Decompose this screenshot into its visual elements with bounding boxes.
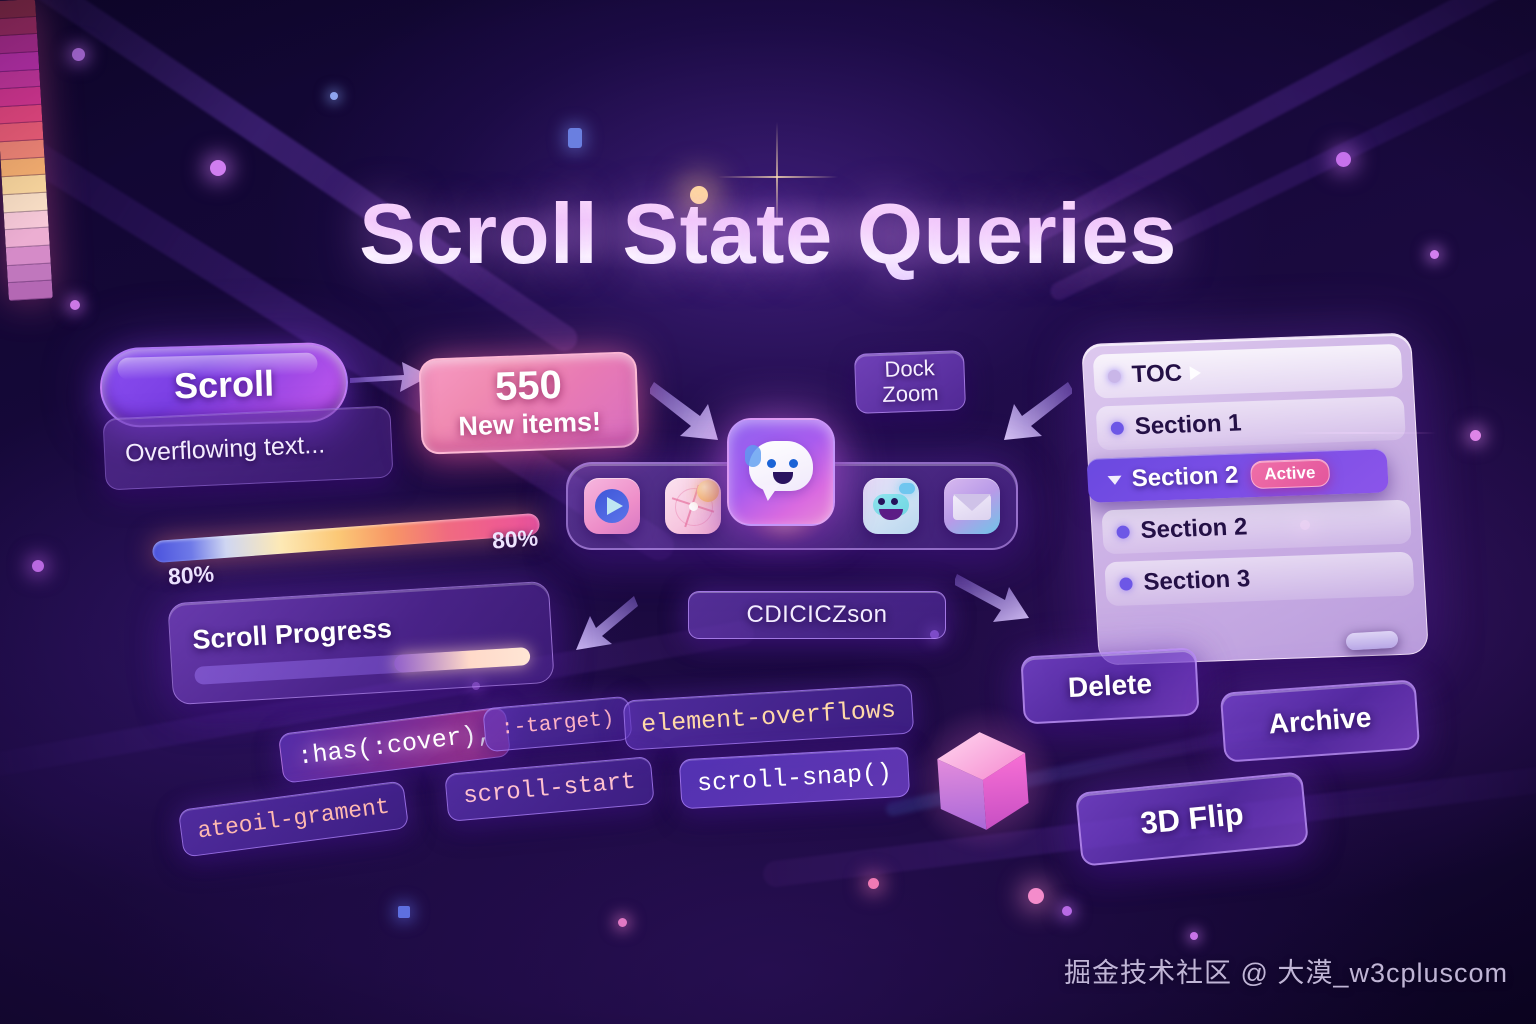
3d-flip-button-label: 3D Flip — [1139, 796, 1245, 842]
code-pill-label: CDICICZson — [746, 601, 887, 629]
mail-icon[interactable] — [944, 478, 1000, 534]
3d-flip-button[interactable]: 3D Flip — [1075, 771, 1309, 867]
toc-item-label: Section 1 — [1134, 409, 1242, 441]
code-tag-label: ateoil-grament — [196, 794, 391, 845]
scroll-progress-gradient-bar[interactable] — [152, 513, 541, 563]
page-title: Scroll State Queries — [0, 186, 1536, 284]
play-icon[interactable] — [584, 478, 640, 534]
scrollbar-segment — [8, 281, 53, 301]
code-tag-scroll-snap[interactable]: scroll-snap() — [679, 747, 910, 810]
3d-cube-icon — [931, 727, 1034, 837]
code-tag-scroll-start[interactable]: scroll-start — [444, 756, 654, 822]
scroll-progress-inner-fill — [394, 647, 531, 673]
scroll-progress-title: Scroll Progress — [192, 613, 393, 656]
archive-button-label: Archive — [1268, 701, 1373, 740]
chat-face-icon[interactable] — [727, 418, 835, 526]
toc-item-section-1[interactable]: Section 1 — [1096, 396, 1406, 451]
progress-percent-right: 80% — [491, 524, 539, 554]
code-tag-label: :-target) — [500, 708, 615, 741]
arrow-dockzoom-to-toc — [980, 378, 1072, 450]
toc-item-section-2-active[interactable]: Section 2 Active — [1086, 448, 1388, 502]
toc-header-label: TOC — [1131, 360, 1183, 390]
toc-item-label: Section 2 — [1131, 462, 1239, 494]
scrollbar-thumb[interactable] — [1346, 630, 1399, 650]
arrow-to-actions — [955, 568, 1043, 630]
dock-zoom-label: Dock Zoom — [854, 350, 966, 414]
code-tag-label: scroll-snap() — [696, 758, 892, 798]
smiley-face-icon[interactable] — [863, 478, 919, 534]
status-badge: Active — [1250, 458, 1331, 489]
code-tag-target[interactable]: :-target) — [482, 696, 633, 753]
toc-item-section-3[interactable]: Section 3 — [1104, 552, 1414, 607]
code-tag-element-overflows[interactable]: element-overflows — [623, 683, 915, 750]
progress-percent-left: 80% — [167, 560, 215, 590]
toc-bullet-icon — [1108, 369, 1122, 382]
toc-item-section-2[interactable]: Section 2 — [1101, 500, 1411, 555]
toc-header-row[interactable]: TOC — [1093, 344, 1403, 399]
new-items-caption: New items! — [458, 407, 602, 443]
toc-bullet-icon — [1116, 525, 1130, 538]
chevron-down-icon[interactable] — [1107, 475, 1121, 484]
archive-button[interactable]: Archive — [1220, 679, 1420, 763]
toc-item-label: Section 2 — [1140, 513, 1248, 545]
dock-zoom-line2: Zoom — [882, 381, 939, 408]
toc-item-label: Section 3 — [1143, 565, 1251, 597]
compass-icon[interactable] — [665, 478, 721, 534]
code-pill[interactable]: CDICICZson — [688, 591, 946, 639]
overflowing-text-label: Overflowing text... — [124, 430, 325, 468]
toc-panel[interactable]: TOC Section 1 Section 2 Active Section 2… — [1081, 332, 1429, 665]
overflowing-text-card: Overflowing text... — [103, 406, 394, 491]
toc-bullet-icon — [1119, 577, 1133, 590]
arrow-progress-down — [568, 592, 640, 662]
poster-canvas: Scroll State Queries Scroll Ov — [0, 0, 1536, 1024]
code-tag-label: element-overflows — [640, 695, 896, 739]
chevron-right-icon[interactable] — [1190, 366, 1202, 380]
delete-button-label: Delete — [1067, 668, 1153, 704]
code-tag-label: scroll-start — [462, 768, 637, 810]
code-tag-label: :has(:cover), — [296, 719, 493, 772]
toc-bullet-icon — [1110, 421, 1124, 434]
dock-light-flare — [735, 520, 835, 570]
new-items-count: 550 — [494, 365, 562, 407]
scroll-button-label: Scroll — [173, 363, 274, 408]
watermark: 掘金技术社区 @ 大漠_w3cpluscom — [1064, 951, 1508, 990]
dock-zoom-line1: Dock — [884, 357, 935, 383]
code-tag-ateoil-grament[interactable]: ateoil-grament — [178, 780, 410, 857]
new-items-badge[interactable]: 550 New items! — [418, 351, 639, 455]
